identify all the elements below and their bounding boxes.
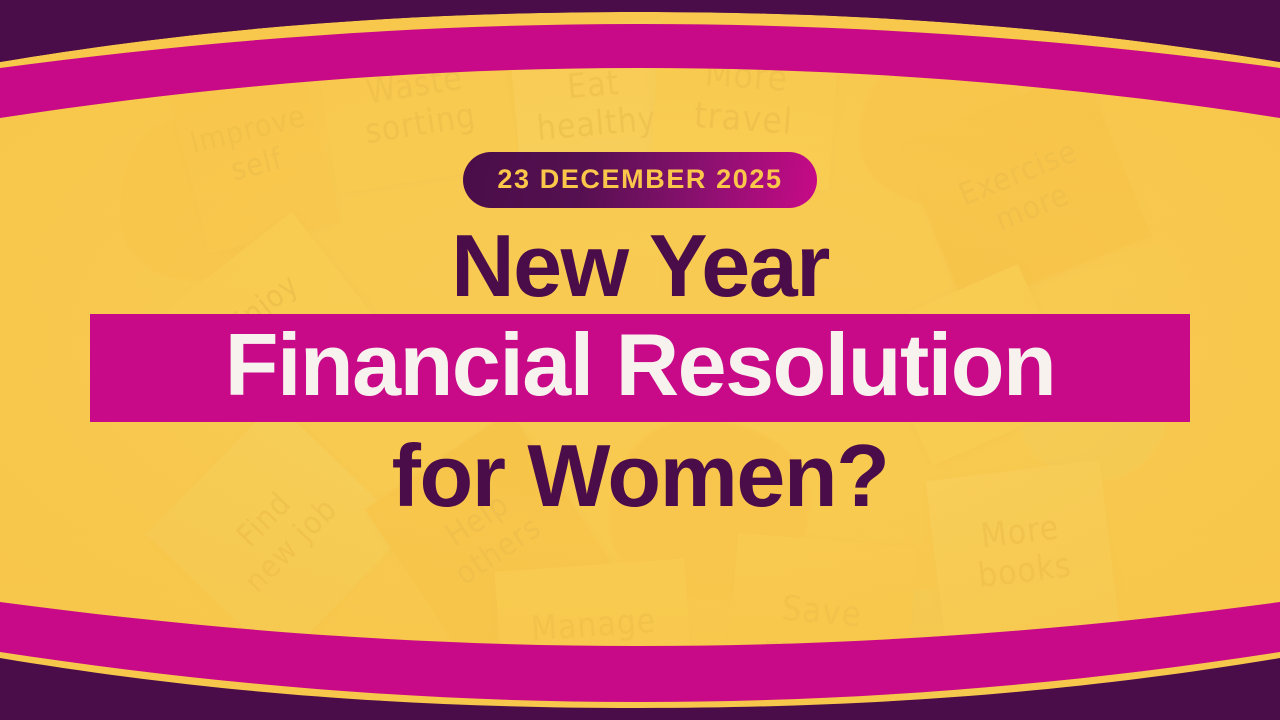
headline-highlight-bar: Financial Resolution bbox=[90, 314, 1190, 422]
headline-line-2: Financial Resolution bbox=[90, 314, 1190, 422]
headline-line-3: for Women? bbox=[90, 432, 1190, 520]
date-badge: 23 DECEMBER 2025 bbox=[463, 152, 816, 208]
headline-line-1: New Year bbox=[90, 222, 1190, 310]
promo-banner: ImproveselfWastesortingEathealthyMoretra… bbox=[0, 0, 1280, 720]
banner-content: 23 DECEMBER 2025 New Year Financial Reso… bbox=[0, 0, 1280, 720]
headline-group: New Year Financial Resolution for Women? bbox=[90, 208, 1190, 520]
